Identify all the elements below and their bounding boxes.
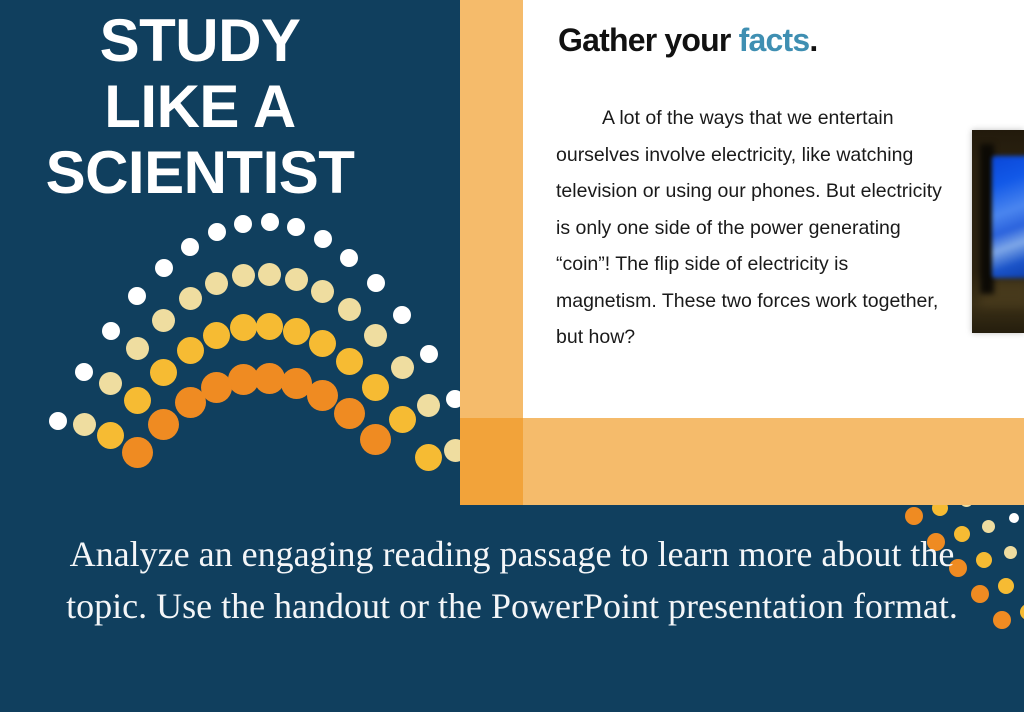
cream-arc-dot — [179, 287, 202, 310]
orange-arc-dot — [334, 398, 365, 429]
cream-arc-dot — [417, 394, 440, 417]
cream-arc-dot — [311, 280, 334, 303]
gold-arc-dot — [230, 314, 257, 341]
corner-cream-row-dot — [982, 520, 995, 533]
gold-arc-dot — [150, 359, 177, 386]
corner-cream-row-dot — [1004, 546, 1017, 559]
white-arc-dot — [208, 223, 226, 241]
cream-arc-dot — [99, 372, 122, 395]
gold-arc-dot — [124, 387, 151, 414]
white-arc-dot — [155, 259, 173, 277]
white-arc-dot — [75, 363, 93, 381]
hero-title-line-3: SCIENTIST — [0, 140, 400, 206]
gold-arc-dot — [309, 330, 336, 357]
gold-arc-dot — [283, 318, 310, 345]
slide-canvas: STUDY LIKE A SCIENTIST Gather your facts… — [0, 0, 1024, 712]
cream-arc-dot — [232, 264, 255, 287]
cream-arc-dot — [391, 356, 414, 379]
orange-horizontal-band — [460, 418, 1024, 505]
white-arc-dot — [393, 306, 411, 324]
cream-arc-dot — [73, 413, 96, 436]
orange-vertical-strip — [460, 0, 523, 418]
orange-arc-dot — [228, 364, 259, 395]
hero-title: STUDY LIKE A SCIENTIST — [0, 8, 400, 206]
orange-arc-dot — [360, 424, 391, 455]
white-arc-dot — [367, 274, 385, 292]
white-arc-dot — [287, 218, 305, 236]
gold-arc-dot — [203, 322, 230, 349]
passage-body-text: A lot of the ways that we entertain ours… — [556, 100, 944, 356]
corner-white-row-dot — [1009, 513, 1019, 523]
television-photo — [972, 130, 1024, 333]
gold-arc-dot — [389, 406, 416, 433]
corner-gold-row-dot — [998, 578, 1014, 594]
corner-orange-row-dot — [971, 585, 989, 603]
card-heading: Gather your facts. — [558, 22, 817, 59]
card-heading-accent: facts — [739, 22, 810, 58]
white-arc-dot — [420, 345, 438, 363]
orange-arc-dot — [122, 437, 153, 468]
white-arc-dot — [261, 213, 279, 231]
corner-gold-row-dot — [1020, 604, 1024, 620]
cream-arc-dot — [126, 337, 149, 360]
white-arc-dot — [340, 249, 358, 267]
white-arc-dot — [49, 412, 67, 430]
orange-arc-dot — [175, 387, 206, 418]
cream-arc-dot — [152, 309, 175, 332]
white-arc-dot — [128, 287, 146, 305]
gold-arc-dot — [336, 348, 363, 375]
card-heading-period: . — [809, 22, 817, 58]
white-arc-dot — [314, 230, 332, 248]
slide-caption: Analyze an engaging reading passage to l… — [62, 528, 962, 632]
cream-arc-dot — [285, 268, 308, 291]
orange-arc-dot — [281, 368, 312, 399]
orange-arc-dot — [201, 372, 232, 403]
corner-gold-row-dot — [976, 552, 992, 568]
orange-arc-dot — [254, 363, 285, 394]
cream-arc-dot — [338, 298, 361, 321]
television-screen — [992, 156, 1024, 278]
passage-card: Gather your facts. A lot of the ways tha… — [523, 0, 1024, 418]
white-arc-dot — [234, 215, 252, 233]
cream-arc-dot — [364, 324, 387, 347]
corner-orange-row-dot — [905, 507, 923, 525]
cream-arc-dot — [258, 263, 281, 286]
corner-orange-row-dot — [993, 611, 1011, 629]
orange-arc-dot — [148, 409, 179, 440]
white-arc-dot — [181, 238, 199, 256]
hero-title-line-1: STUDY — [0, 8, 400, 74]
hero-title-line-2: LIKE A — [0, 74, 400, 140]
gold-arc-dot — [415, 444, 442, 471]
orange-arc-dot — [307, 380, 338, 411]
orange-strip-overlap — [460, 418, 523, 505]
white-arc-dot — [102, 322, 120, 340]
gold-arc-dot — [256, 313, 283, 340]
cream-arc-dot — [205, 272, 228, 295]
card-heading-lead: Gather your — [558, 22, 739, 58]
gold-arc-dot — [362, 374, 389, 401]
gold-arc-dot — [97, 422, 124, 449]
gold-arc-dot — [177, 337, 204, 364]
